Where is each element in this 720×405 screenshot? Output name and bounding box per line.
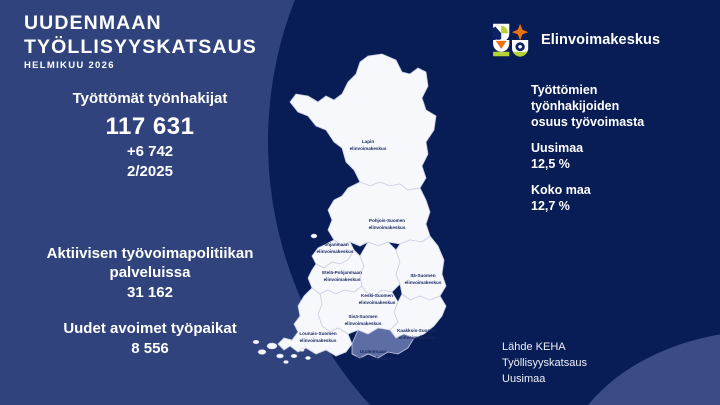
right-panel: Elinvoimakeskus Työttömien työnhakijoide… [492, 0, 720, 405]
map-label-ita-suomen-1: Itä-Suomen [410, 273, 435, 278]
stat-period: 2/2025 [0, 162, 300, 182]
left-panel: UUDENMAAN TYÖLLISYYSKATSAUS HELMIKUU 202… [0, 0, 300, 405]
stat-value: 117 631 [0, 111, 300, 142]
map-label-sisa-suomen-1: Sisä-Suomen [348, 314, 377, 319]
kpi-uusimaa: Uusimaa 12,5 % [531, 140, 720, 173]
source-line2: Työllisyyskatsaus [502, 356, 712, 372]
right-heading-line3: osuus työvoimasta [531, 114, 720, 130]
right-panel-heading: Työttömien työnhakijoiden osuus työvoima… [531, 82, 720, 130]
elinvoimakeskus-logo-icon [492, 22, 532, 58]
stat-change: +6 742 [0, 142, 300, 162]
kpi-name: Uusimaa [531, 140, 720, 156]
map-label-pohjanmaan-1: Pohjanmaan [321, 242, 349, 247]
map-label-lounais-suomen-2: elinvoimakeskus [300, 338, 337, 343]
right-heading-line1: Työttömien [531, 82, 720, 98]
brand-lockup: Elinvoimakeskus [492, 22, 660, 58]
map-region-keski-suomen [360, 242, 400, 296]
source-line1: Lähde KEHA [502, 340, 712, 356]
infographic-canvas: Lapin elinvoimakeskus Pohjois-Suomen eli… [0, 0, 720, 405]
kpi-value: 12,5 % [531, 156, 720, 172]
map-label-pohjois-suomen-1: Pohjois-Suomen [369, 218, 405, 223]
right-heading-line2: työnhakijoiden [531, 98, 720, 114]
map-label-etela-pohjanmaan-1: Etelä-Pohjanmaan [322, 270, 362, 275]
stat-active-labour-policy: Aktiivisen työvoimapolitiikan palveluiss… [0, 245, 300, 303]
kpi-value: 12,7 % [531, 198, 720, 214]
source-line3: Uusimaa [502, 372, 712, 388]
stat-unemployed-jobseekers: Työttömät työnhakijat 117 631 +6 742 2/2… [0, 90, 300, 182]
page-title-line1: UUDENMAAN [24, 12, 257, 36]
kpi-koko-maa: Koko maa 12,7 % [531, 182, 720, 215]
map-label-uudenmaan-1: Uudenmaan [360, 349, 386, 354]
map-label-kaakkois-suomen-2: elinvoimakeskus [399, 335, 436, 340]
map-region-lapin [290, 54, 436, 190]
stat-value: 8 556 [0, 339, 300, 359]
stat-label: Työttömät työnhakijat [0, 90, 300, 109]
stat-new-vacancies: Uudet avoimet työpaikat 8 556 [0, 320, 300, 359]
stat-label-line2: palveluissa [0, 264, 300, 283]
stat-label: Uudet avoimet työpaikat [0, 320, 300, 339]
map-region-ita-suomen [396, 236, 446, 300]
map-label-ita-suomen-2: elinvoimakeskus [405, 280, 442, 285]
page-subtitle: HELMIKUU 2026 [24, 60, 115, 71]
kpi-name: Koko maa [531, 182, 720, 198]
brand-name: Elinvoimakeskus [541, 32, 660, 48]
map-label-kaakkois-suomen-1: Kaakkois-Suomen [397, 328, 437, 333]
map-label-pohjois-suomen-2: elinvoimakeskus [369, 225, 406, 230]
map-label-keski-suomen-2: elinvoimakeskus [359, 300, 396, 305]
map-label-keski-suomen-1: Keski-Suomen [361, 293, 393, 298]
page-title: UUDENMAAN TYÖLLISYYSKATSAUS [24, 12, 257, 60]
page-title-line2: TYÖLLISYYSKATSAUS [24, 36, 257, 60]
source-attribution: Lähde KEHA Työllisyyskatsaus Uusimaa [502, 340, 712, 388]
map-label-lapin-2: elinvoimakeskus [350, 146, 387, 151]
map-region-pohjois-suomen [328, 182, 430, 246]
stat-label-line1: Aktiivisen työvoimapolitiikan [0, 245, 300, 264]
map-label-uudenmaan-2: elinvoimakeskus [355, 356, 392, 361]
map-label-lounais-suomen-1: Lounais-Suomen [299, 331, 336, 336]
stat-value: 31 162 [0, 283, 300, 303]
map-label-lapin-1: Lapin [362, 139, 374, 144]
map-label-pohjanmaan-2: elinvoimakeskus [317, 249, 354, 254]
map-label-etela-pohjanmaan-2: elinvoimakeskus [324, 277, 361, 282]
map-label-sisa-suomen-2: elinvoimakeskus [345, 321, 382, 326]
